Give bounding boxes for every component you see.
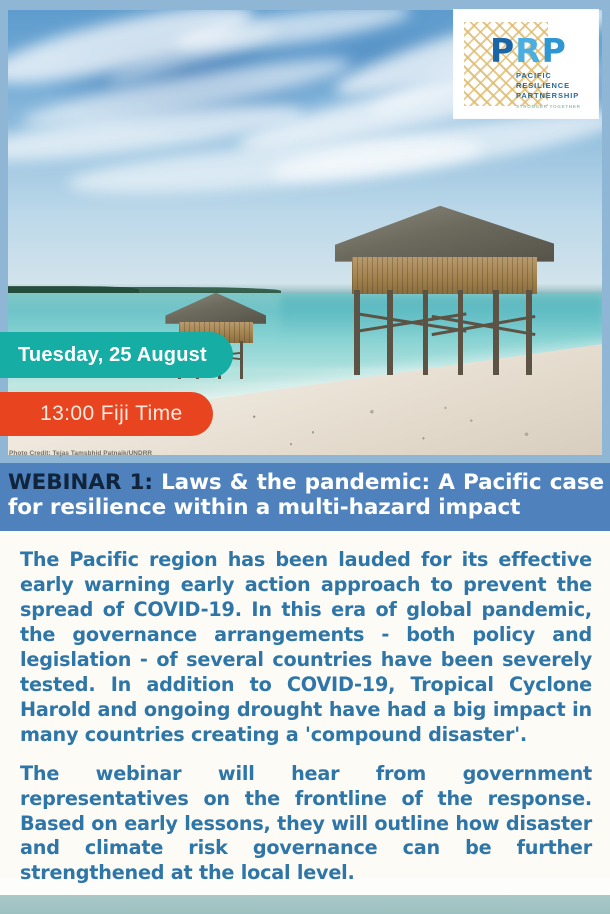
prp-letter-p1: P (490, 31, 515, 70)
time-badge: 13:00 Fiji Time (0, 392, 213, 436)
hut-stilt (387, 290, 393, 375)
hut-wall (352, 257, 537, 294)
treeline-near (8, 286, 139, 293)
banner-text: WEBINAR 1: Laws & the pandemic: A Pacifi… (8, 471, 604, 521)
stilt-hut-large (335, 206, 555, 375)
hut-stilt (493, 290, 499, 375)
prp-logo-text: PRP PACIFIC RESILIENCE PARTNERSHIP STRON… (490, 34, 594, 109)
date-badge-label: Tuesday, 25 August (18, 344, 207, 367)
prp-tagline: STRONGER TOGETHER (516, 104, 594, 109)
prp-letter-r: R (515, 31, 541, 70)
paragraph: The webinar will hear from government re… (20, 762, 592, 887)
date-badge: Tuesday, 25 August (0, 332, 233, 378)
hut-roof (165, 293, 266, 324)
time-badge-label: 13:00 Fiji Time (40, 402, 183, 426)
webinar-poster: PRP PACIFIC RESILIENCE PARTNERSHIP STRON… (0, 0, 610, 914)
hut-stilt (458, 290, 464, 375)
prp-logo: PRP PACIFIC RESILIENCE PARTNERSHIP STRON… (454, 10, 598, 118)
hut-stilt (423, 290, 429, 375)
footer-strip (0, 895, 610, 914)
prp-fullname-line1: PACIFIC (516, 71, 594, 81)
title-banner: WEBINAR 1: Laws & the pandemic: A Pacifi… (0, 463, 610, 531)
hut-roof (335, 206, 555, 262)
prp-acronym: PRP (490, 34, 594, 67)
prp-fullname-line3: PARTNERSHIP (516, 91, 594, 101)
prp-fullname: PACIFIC RESILIENCE PARTNERSHIP (516, 71, 594, 101)
pebbles (210, 402, 578, 451)
paragraph: The Pacific region has been lauded for i… (20, 548, 592, 748)
photo-credit: Photo Credit: Tejas Tamsbhid Patnaik/UND… (9, 450, 152, 457)
prp-letter-p2: P (542, 31, 567, 70)
webinar-label: WEBINAR 1: (8, 470, 153, 495)
body-copy: The Pacific region has been lauded for i… (0, 531, 610, 878)
hero-photo: PRP PACIFIC RESILIENCE PARTNERSHIP STRON… (0, 0, 610, 463)
prp-fullname-line2: RESILIENCE (516, 81, 594, 91)
